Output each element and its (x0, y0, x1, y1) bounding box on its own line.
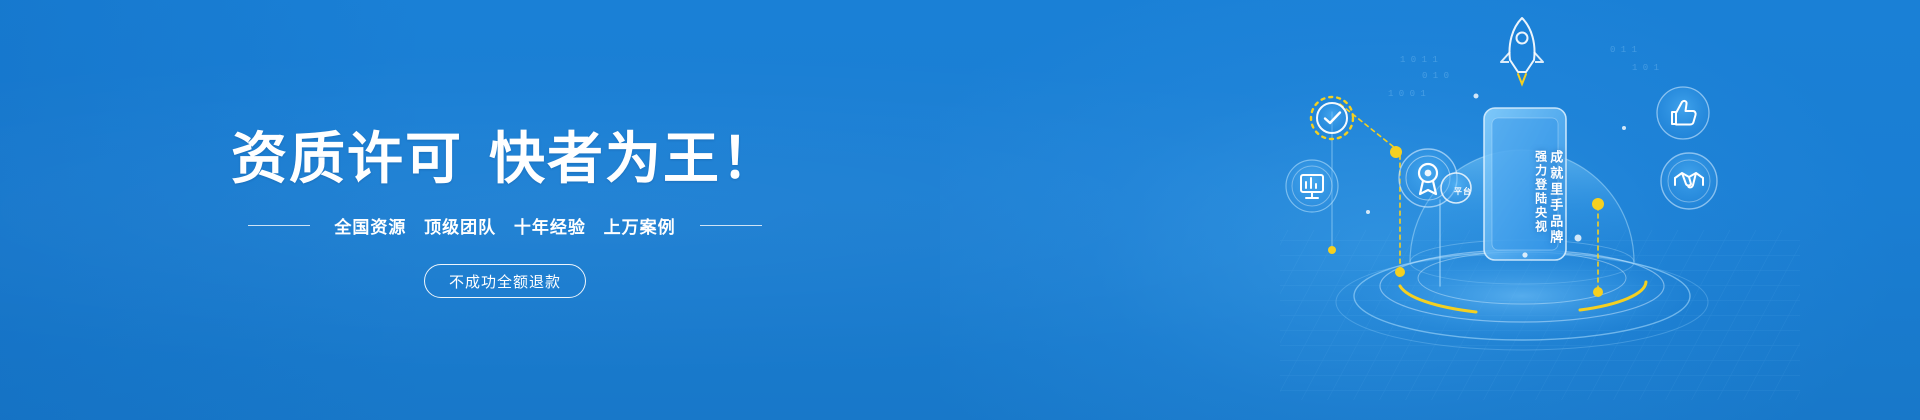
headline-part-right: 快者为王！ (489, 127, 779, 190)
subtitle: 全国资源 顶级团队 十年经验 上万案例 (328, 213, 681, 238)
rocket-icon (1501, 18, 1543, 84)
promo-banner: 资质许可快者为王！ 全国资源 顶级团队 十年经验 上万案例 不成功全额退款 (0, 0, 1920, 420)
subtitle-row: 全国资源 顶级团队 十年经验 上万案例 (248, 213, 761, 238)
subtitle-item-0: 全国资源 (334, 218, 406, 237)
banner-copy-block: 资质许可快者为王！ 全国资源 顶级团队 十年经验 上万案例 不成功全额退款 (0, 0, 1010, 420)
thumbs-up-icon (1657, 87, 1709, 139)
chart-monitor-icon (1286, 160, 1338, 212)
platform-badge-icon (1441, 173, 1471, 203)
headline-part-left: 资质许可 (231, 127, 463, 190)
subtitle-item-3: 上万案例 (604, 218, 676, 237)
check-circle-icon (1311, 97, 1353, 139)
svg-text:1 0 1: 1 0 1 (1632, 63, 1659, 73)
handshake-icon (1661, 153, 1717, 209)
refund-guarantee-button[interactable]: 不成功全额退款 (424, 264, 586, 298)
svg-text:1 0 0 1: 1 0 0 1 (1388, 89, 1426, 99)
page-title: 资质许可快者为王！ (231, 128, 779, 190)
subtitle-item-1: 顶级团队 (424, 218, 496, 237)
svg-text:0 1 0: 0 1 0 (1422, 71, 1449, 81)
tablet-device (1484, 108, 1566, 260)
divider-left (248, 225, 310, 226)
divider-right (700, 225, 762, 226)
subtitle-item-2: 十年经验 (514, 218, 586, 237)
hero-illustration: 1 0 1 1 0 1 0 1 0 0 1 0 1 1 1 0 1 (1280, 0, 1800, 420)
svg-text:0 1 1: 0 1 1 (1610, 45, 1637, 55)
svg-text:1 0 1 1: 1 0 1 1 (1400, 55, 1438, 65)
